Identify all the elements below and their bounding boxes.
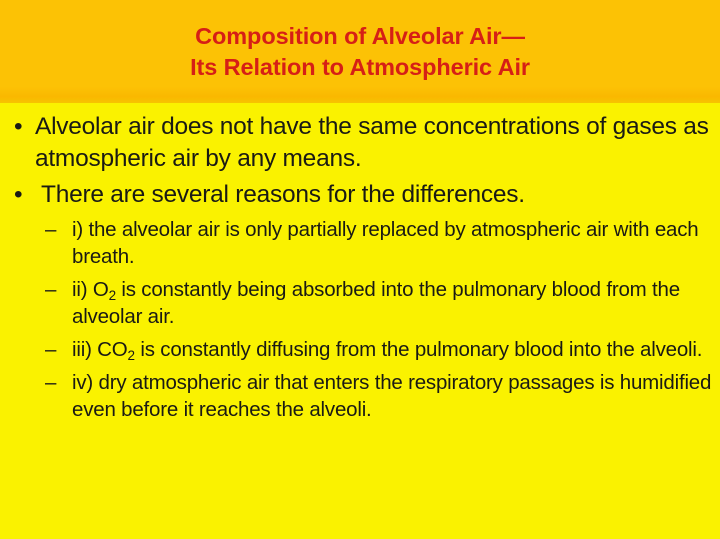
sub-bullet-item-ii-text-after: is constantly being absorbed into the pu… (72, 278, 680, 328)
oxygen-subscript: 2 (109, 287, 116, 302)
sub-bullet-item-iii-text-before: iii) CO (72, 338, 128, 361)
slide-body: • Alveolar air does not have the same co… (0, 103, 720, 539)
sub-bullet-item-i: – i) the alveolar air is only partially … (4, 216, 716, 270)
sub-bullet-item-i-text: i) the alveolar air is only partially re… (72, 218, 699, 268)
slide-title-line-1: Composition of Alveolar Air— (195, 21, 525, 52)
dash-marker-icon: – (45, 369, 56, 396)
slide-canvas: Composition of Alveolar Air— Its Relatio… (0, 0, 720, 539)
sub-bullet-item-ii-text-before: ii) O (72, 278, 109, 301)
sub-bullet-item-iii: – iii) CO2 is constantly diffusing from … (4, 336, 716, 363)
sub-bullet-item-iv-text: iv) dry atmospheric air that enters the … (72, 371, 711, 421)
sub-bullet-item-ii: – ii) O2 is constantly being absorbed in… (4, 276, 716, 330)
dash-marker-icon: – (45, 336, 56, 363)
bullet-dot-icon: • (14, 179, 22, 211)
bullet-item-1-text: Alveolar air does not have the same conc… (35, 113, 709, 172)
bullet-item-1: • Alveolar air does not have the same co… (4, 111, 716, 174)
dash-marker-icon: – (45, 276, 56, 303)
bullet-item-2-text: There are several reasons for the differ… (41, 181, 525, 208)
sub-bullet-item-iii-text-after: is constantly diffusing from the pulmona… (135, 338, 702, 361)
dash-marker-icon: – (45, 216, 56, 243)
bullet-item-2: • There are several reasons for the diff… (4, 179, 716, 211)
bullet-dot-icon: • (14, 111, 22, 143)
slide-title-band: Composition of Alveolar Air— Its Relatio… (0, 0, 720, 103)
slide-title-line-2: Its Relation to Atmospheric Air (190, 52, 530, 83)
sub-bullet-item-iv: – iv) dry atmospheric air that enters th… (4, 369, 716, 423)
carbon-dioxide-subscript: 2 (128, 347, 135, 362)
